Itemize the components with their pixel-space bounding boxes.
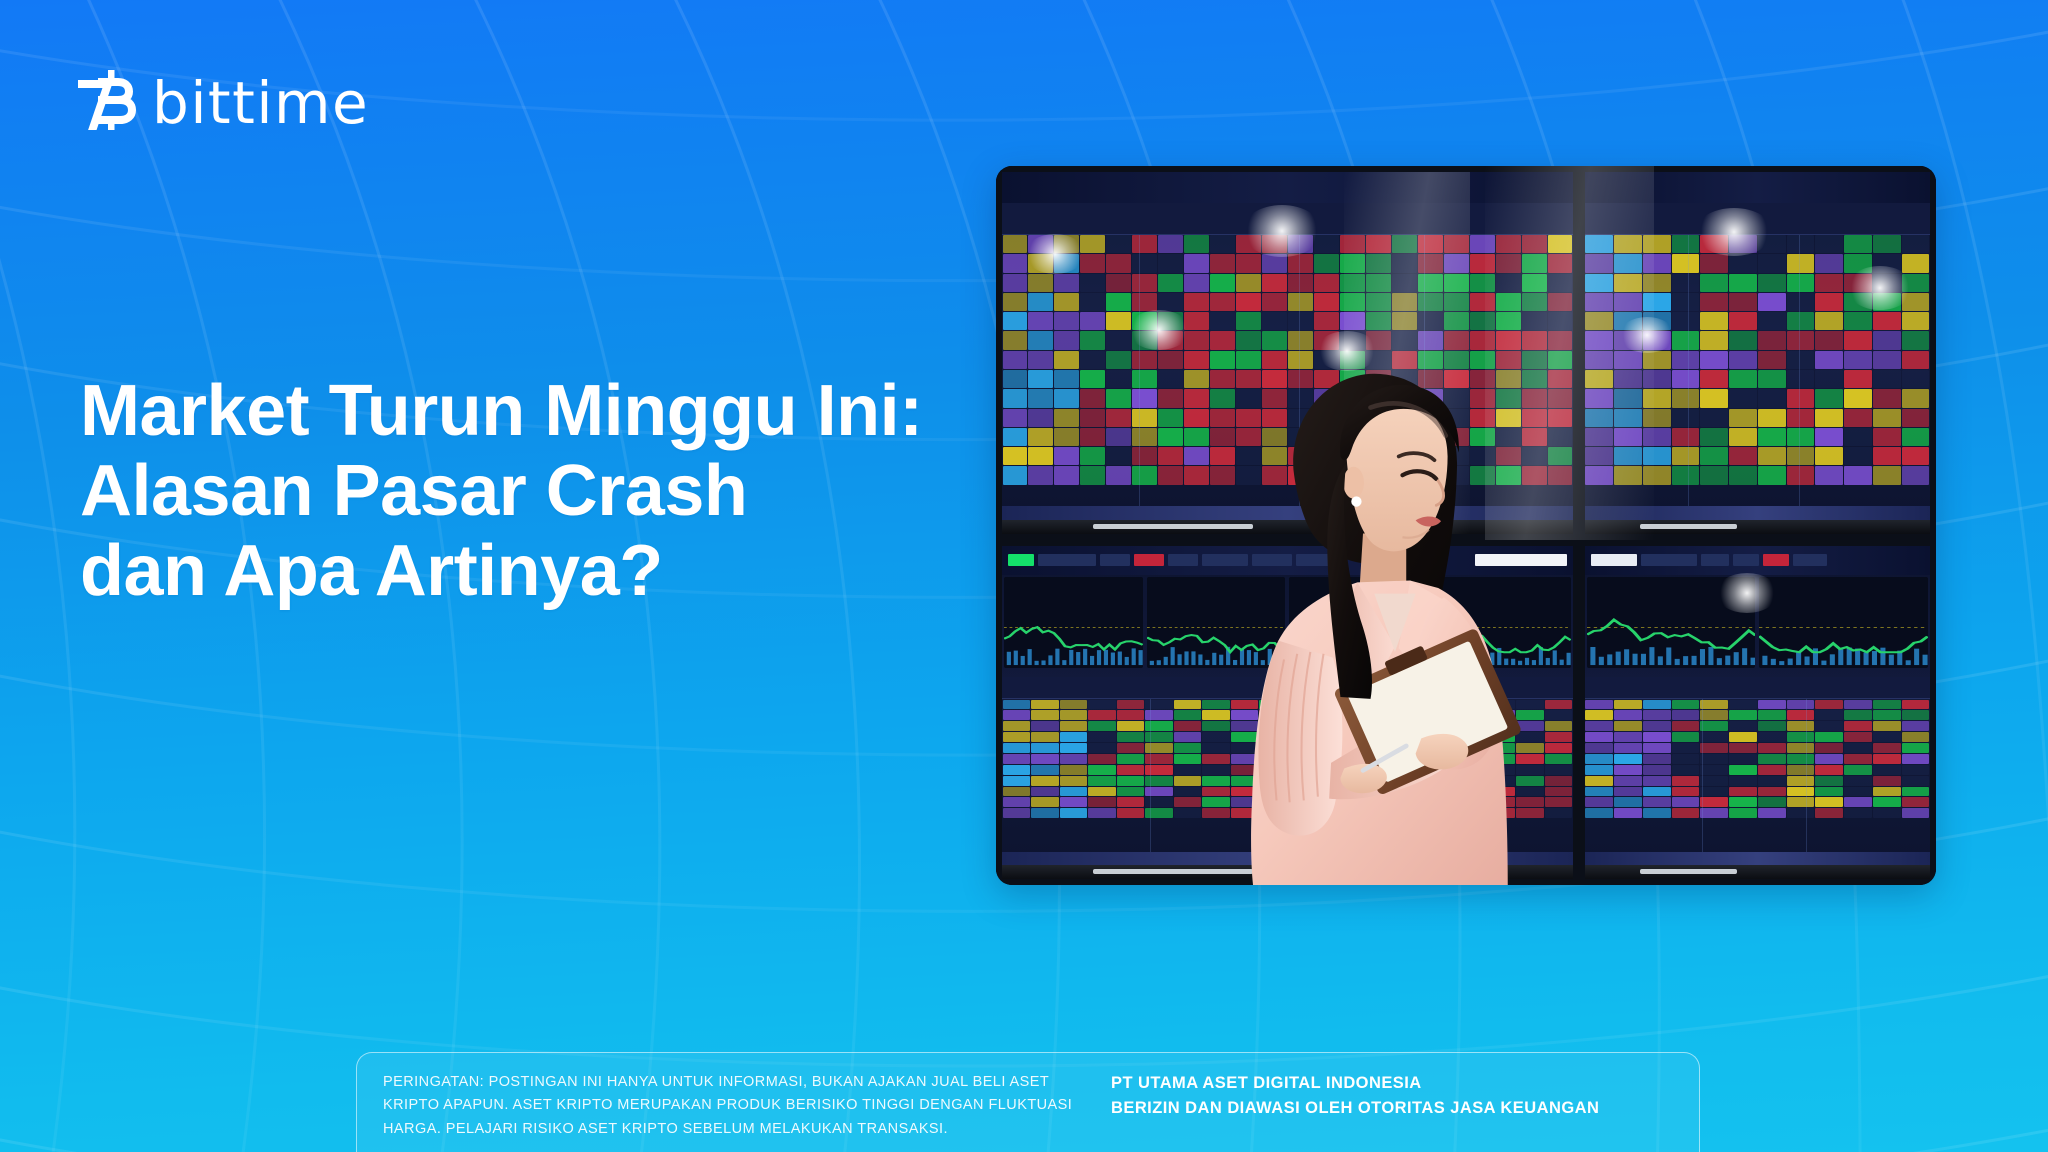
quote-row: [1585, 235, 1930, 254]
quote-cell: [1106, 293, 1131, 311]
quote-cell: [1106, 274, 1131, 292]
quote-cell: [1815, 428, 1843, 446]
quote-cell: [1288, 254, 1313, 272]
quote-cell: [1496, 312, 1521, 330]
quote-cell: [1873, 235, 1901, 253]
quote-cell: [1003, 312, 1028, 330]
quote-cell: [1729, 235, 1757, 253]
quote-cell: [1614, 409, 1642, 427]
quote-cell: [1470, 312, 1495, 330]
quote-cell: [1496, 331, 1521, 349]
quote-cell: [1054, 466, 1079, 484]
quote-cell: [1236, 254, 1261, 272]
screen-footer-bar: [1585, 506, 1930, 520]
quote-cell: [1614, 765, 1642, 775]
regulator-statement: BERIZIN DAN DIAWASI OLEH OTORITAS JASA K…: [1111, 1096, 1599, 1121]
quote-cell: [1028, 254, 1053, 272]
quote-cell: [1758, 808, 1786, 818]
quote-cell: [1787, 808, 1815, 818]
quote-cell: [1614, 312, 1642, 330]
quote-cell: [1392, 331, 1417, 349]
quote-cell: [1054, 235, 1079, 253]
quote-cell: [1902, 732, 1930, 742]
quote-cell: [1902, 428, 1930, 446]
quote-cell: [1873, 743, 1901, 753]
quote-cell: [1314, 254, 1339, 272]
quote-row: [1585, 732, 1930, 743]
analyst-figure: [1128, 353, 1617, 885]
quote-cell: [1787, 776, 1815, 786]
quote-grid: [1585, 235, 1930, 506]
quote-cell: [1672, 787, 1700, 797]
quote-cell: [1031, 776, 1059, 786]
hero-photo: [996, 166, 1936, 885]
quote-cell: [1132, 274, 1157, 292]
quote-cell: [1080, 428, 1105, 446]
quote-row: [1585, 743, 1930, 754]
quote-cell: [1902, 700, 1930, 710]
quote-cell: [1758, 274, 1786, 292]
quote-cell: [1060, 754, 1088, 764]
quote-cell: [1844, 710, 1872, 720]
quote-cell: [1700, 808, 1728, 818]
quote-cell: [1873, 808, 1901, 818]
quote-cell: [1444, 331, 1469, 349]
quote-cell: [1031, 787, 1059, 797]
quote-cell: [1729, 721, 1757, 731]
quote-cell: [1031, 732, 1059, 742]
quote-cell: [1729, 710, 1757, 720]
quote-cell: [1700, 331, 1728, 349]
quote-cell: [1184, 312, 1209, 330]
quote-cell: [1054, 409, 1079, 427]
quote-cell: [1060, 776, 1088, 786]
quote-cell: [1028, 389, 1053, 407]
quote-cell: [1672, 710, 1700, 720]
quote-cell: [1060, 787, 1088, 797]
quote-cell: [1787, 710, 1815, 720]
quote-cell: [1758, 254, 1786, 272]
quote-cell: [1262, 293, 1287, 311]
quote-cell: [1844, 466, 1872, 484]
quote-cell: [1614, 721, 1642, 731]
quote-cell: [1314, 293, 1339, 311]
quote-cell: [1614, 776, 1642, 786]
quote-cell: [1003, 389, 1028, 407]
quote-cell: [1418, 274, 1443, 292]
quote-cell: [1210, 312, 1235, 330]
quote-cell: [1060, 700, 1088, 710]
quote-cell: [1873, 776, 1901, 786]
quote-row: [1585, 808, 1930, 819]
quote-cell: [1787, 235, 1815, 253]
quote-cell: [1080, 466, 1105, 484]
quote-cell: [1392, 293, 1417, 311]
quote-cell: [1700, 710, 1728, 720]
quote-cell: [1844, 808, 1872, 818]
quote-cell: [1314, 312, 1339, 330]
quote-cell: [1844, 312, 1872, 330]
quote-cell: [1787, 312, 1815, 330]
quote-cell: [1210, 235, 1235, 253]
quote-cell: [1184, 331, 1209, 349]
quote-cell: [1643, 797, 1671, 807]
quote-cell: [1585, 331, 1613, 349]
quote-cell: [1700, 787, 1728, 797]
quote-cell: [1060, 743, 1088, 753]
quote-cell: [1236, 274, 1261, 292]
quote-cell: [1873, 447, 1901, 465]
quote-cell: [1614, 235, 1642, 253]
quote-cell: [1236, 235, 1261, 253]
quote-cell: [1787, 428, 1815, 446]
quote-cell: [1643, 732, 1671, 742]
quote-cell: [1080, 447, 1105, 465]
quote-cell: [1729, 797, 1757, 807]
quote-cell: [1902, 254, 1930, 272]
quote-cell: [1060, 721, 1088, 731]
quote-cell: [1873, 754, 1901, 764]
quote-cell: [1418, 235, 1443, 253]
quote-cell: [1873, 409, 1901, 427]
quote-cell: [1815, 787, 1843, 797]
quote-cell: [1700, 743, 1728, 753]
quote-cell: [1873, 721, 1901, 731]
quote-cell: [1522, 312, 1547, 330]
quote-cell: [1902, 754, 1930, 764]
quote-cell: [1236, 312, 1261, 330]
quote-cell: [1210, 254, 1235, 272]
quote-row: [1585, 699, 1930, 710]
quote-cell: [1758, 428, 1786, 446]
quote-cell: [1787, 447, 1815, 465]
screen-ticker-bar: [1585, 172, 1930, 203]
quote-cell: [1672, 370, 1700, 388]
quote-cell: [1700, 293, 1728, 311]
quote-cell: [1873, 389, 1901, 407]
quote-cell: [1815, 743, 1843, 753]
quote-cell: [1028, 447, 1053, 465]
quote-cell: [1366, 293, 1391, 311]
quote-cell: [1815, 776, 1843, 786]
quote-cell: [1758, 293, 1786, 311]
quote-cell: [1060, 732, 1088, 742]
quote-cell: [1815, 370, 1843, 388]
monitor-bezel: [1585, 865, 1930, 879]
quote-cell: [1003, 428, 1028, 446]
quote-cell: [1028, 409, 1053, 427]
quote-cell: [1729, 409, 1757, 427]
quote-cell: [1815, 466, 1843, 484]
bittime-7b-bitcoin-mark-icon: [78, 68, 136, 130]
quote-cell: [1054, 370, 1079, 388]
quote-cell: [1672, 743, 1700, 753]
quote-row: [1585, 369, 1930, 388]
quote-cell: [1262, 331, 1287, 349]
quote-cell: [1470, 274, 1495, 292]
quote-cell: [1262, 312, 1287, 330]
quote-cell: [1700, 409, 1728, 427]
quote-cell: [1031, 797, 1059, 807]
quote-cell: [1028, 370, 1053, 388]
quote-cell: [1787, 797, 1815, 807]
quote-cell: [1080, 331, 1105, 349]
quote-cell: [1262, 254, 1287, 272]
quote-cell: [1548, 254, 1573, 272]
quote-cell: [1366, 254, 1391, 272]
quote-cell: [1158, 331, 1183, 349]
quote-cell: [1787, 254, 1815, 272]
quote-cell: [1003, 721, 1031, 731]
quote-cell: [1873, 787, 1901, 797]
quote-cell: [1184, 274, 1209, 292]
quote-cell: [1700, 447, 1728, 465]
quote-cell: [1672, 808, 1700, 818]
quote-cell: [1470, 254, 1495, 272]
quote-cell: [1054, 312, 1079, 330]
quote-cell: [1729, 466, 1757, 484]
quote-cell: [1787, 466, 1815, 484]
trading-board-top-right: [1579, 166, 1936, 540]
sleeve-left: [1258, 641, 1342, 836]
quote-cell: [1470, 331, 1495, 349]
quote-cell: [1643, 293, 1671, 311]
quote-cell: [1643, 787, 1671, 797]
quote-cell: [1158, 274, 1183, 292]
quote-cell: [1314, 331, 1339, 349]
quote-cell: [1132, 331, 1157, 349]
quote-cell: [1444, 312, 1469, 330]
quote-cell: [1672, 428, 1700, 446]
quote-cell: [1288, 312, 1313, 330]
quote-cell: [1672, 254, 1700, 272]
quote-cell: [1672, 797, 1700, 807]
quote-cell: [1080, 351, 1105, 369]
quote-cell: [1614, 447, 1642, 465]
quote-cell: [1548, 274, 1573, 292]
quote-cell: [1392, 254, 1417, 272]
quote-cell: [1729, 370, 1757, 388]
quote-cell: [1758, 331, 1786, 349]
quote-cell: [1392, 235, 1417, 253]
bittime-logo[interactable]: bittime: [78, 68, 369, 130]
quote-cell: [1340, 331, 1365, 349]
quote-cell: [1815, 312, 1843, 330]
quote-cell: [1844, 721, 1872, 731]
quote-cell: [1028, 331, 1053, 349]
quote-cell: [1902, 787, 1930, 797]
quote-cell: [1585, 312, 1613, 330]
quote-row: [1002, 312, 1573, 331]
quote-cell: [1614, 700, 1642, 710]
quote-cell: [1873, 370, 1901, 388]
quote-cell: [1088, 776, 1116, 786]
quote-cell: [1340, 293, 1365, 311]
headline-line-3: dan Apa Artinya?: [80, 532, 1020, 612]
quote-cell: [1672, 312, 1700, 330]
quote-cell: [1054, 447, 1079, 465]
quote-cell: [1643, 254, 1671, 272]
quote-cell: [1132, 254, 1157, 272]
quote-cell: [1054, 331, 1079, 349]
quote-cell: [1787, 370, 1815, 388]
quote-cell: [1392, 312, 1417, 330]
risk-warning-text: PERINGATAN: POSTINGAN INI HANYA UNTUK IN…: [383, 1071, 1073, 1141]
quote-cell: [1700, 754, 1728, 764]
quote-cell: [1643, 765, 1671, 775]
photo-content: [996, 166, 1936, 885]
quote-cell: [1003, 331, 1028, 349]
quote-cell: [1643, 389, 1671, 407]
quote-cell: [1643, 743, 1671, 753]
quote-cell: [1700, 254, 1728, 272]
quote-cell: [1729, 274, 1757, 292]
quote-cell: [1496, 274, 1521, 292]
quote-cell: [1672, 351, 1700, 369]
quote-cell: [1729, 351, 1757, 369]
quote-cell: [1548, 312, 1573, 330]
quote-cell: [1758, 409, 1786, 427]
quote-row: [1585, 797, 1930, 808]
quote-cell: [1672, 776, 1700, 786]
quote-cell: [1548, 293, 1573, 311]
quote-cell: [1088, 700, 1116, 710]
quote-cell: [1522, 293, 1547, 311]
quote-cell: [1815, 274, 1843, 292]
quote-cell: [1787, 743, 1815, 753]
quote-cell: [1643, 808, 1671, 818]
quote-cell: [1643, 312, 1671, 330]
quote-cell: [1844, 787, 1872, 797]
quote-cell: [1106, 254, 1131, 272]
quote-cell: [1815, 235, 1843, 253]
quote-cell: [1614, 710, 1642, 720]
quote-cell: [1844, 732, 1872, 742]
quote-cell: [1470, 235, 1495, 253]
quote-cell: [1210, 331, 1235, 349]
quote-row: [1585, 764, 1930, 775]
quote-cell: [1262, 235, 1287, 253]
quote-cell: [1844, 293, 1872, 311]
quote-cell: [1643, 409, 1671, 427]
company-info: PT UTAMA ASET DIGITAL INDONESIA BERIZIN …: [1111, 1071, 1599, 1121]
quote-cell: [1003, 787, 1031, 797]
screen-column-header: [1585, 203, 1930, 234]
quote-cell: [1031, 710, 1059, 720]
quote-cell: [1340, 254, 1365, 272]
quote-cell: [1236, 331, 1261, 349]
quote-cell: [1106, 235, 1131, 253]
quote-cell: [1003, 409, 1028, 427]
quote-cell: [1729, 254, 1757, 272]
quote-cell: [1844, 754, 1872, 764]
quote-cell: [1815, 409, 1843, 427]
quote-cell: [1672, 466, 1700, 484]
quote-cell: [1758, 466, 1786, 484]
quote-cell: [1003, 700, 1031, 710]
quote-cell: [1729, 765, 1757, 775]
quote-cell: [1672, 389, 1700, 407]
quote-cell: [1643, 370, 1671, 388]
quote-cell: [1787, 754, 1815, 764]
chart-screen: [1585, 546, 1930, 865]
quote-cell: [1729, 700, 1757, 710]
quote-cell: [1585, 254, 1613, 272]
quote-cell: [1158, 254, 1183, 272]
quote-cell: [1158, 235, 1183, 253]
quote-cell: [1643, 754, 1671, 764]
quote-cell: [1844, 409, 1872, 427]
quote-cell: [1643, 710, 1671, 720]
quote-cell: [1288, 274, 1313, 292]
quote-cell: [1815, 331, 1843, 349]
quote-cell: [1787, 351, 1815, 369]
quote-cell: [1672, 409, 1700, 427]
quote-cell: [1496, 235, 1521, 253]
quote-cell: [1054, 293, 1079, 311]
quote-cell: [1031, 808, 1059, 818]
quote-cell: [1643, 351, 1671, 369]
disclaimer-box: PERINGATAN: POSTINGAN INI HANYA UNTUK IN…: [356, 1052, 1700, 1152]
quote-cell: [1729, 312, 1757, 330]
quote-cell: [1902, 765, 1930, 775]
quote-cell: [1729, 293, 1757, 311]
quote-cell: [1700, 428, 1728, 446]
quote-cell: [1003, 293, 1028, 311]
quote-cell: [1184, 235, 1209, 253]
quote-cell: [1028, 235, 1053, 253]
quote-cell: [1844, 235, 1872, 253]
quote-row: [1585, 389, 1930, 408]
quote-cell: [1787, 274, 1815, 292]
quote-cell: [1902, 721, 1930, 731]
quote-cell: [1031, 721, 1059, 731]
quote-cell: [1844, 428, 1872, 446]
quote-cell: [1340, 312, 1365, 330]
quote-cell: [1003, 370, 1028, 388]
quote-cell: [1003, 710, 1031, 720]
quote-cell: [1902, 743, 1930, 753]
quote-cell: [1700, 312, 1728, 330]
quote-cell: [1444, 293, 1469, 311]
quote-cell: [1758, 370, 1786, 388]
quote-cell: [1054, 351, 1079, 369]
quote-cell: [1522, 254, 1547, 272]
quote-cell: [1080, 370, 1105, 388]
quote-cell: [1902, 466, 1930, 484]
quote-cell: [1003, 776, 1031, 786]
quote-cell: [1672, 331, 1700, 349]
quote-cell: [1700, 797, 1728, 807]
quote-cell: [1088, 754, 1116, 764]
quote-row: [1585, 466, 1930, 485]
quote-cell: [1902, 331, 1930, 349]
quote-cell: [1614, 351, 1642, 369]
bittime-wordmark: bittime: [152, 74, 369, 132]
quote-cell: [1003, 743, 1031, 753]
quote-cell: [1444, 254, 1469, 272]
quote-cell: [1262, 274, 1287, 292]
quote-cell: [1184, 254, 1209, 272]
quote-cell: [1758, 743, 1786, 753]
quote-row: [1585, 254, 1930, 273]
quote-cell: [1672, 732, 1700, 742]
quote-cell: [1902, 776, 1930, 786]
quote-cell: [1470, 293, 1495, 311]
quote-cell: [1418, 254, 1443, 272]
trading-board-bottom-right: [1579, 540, 1936, 885]
quote-cell: [1088, 732, 1116, 742]
